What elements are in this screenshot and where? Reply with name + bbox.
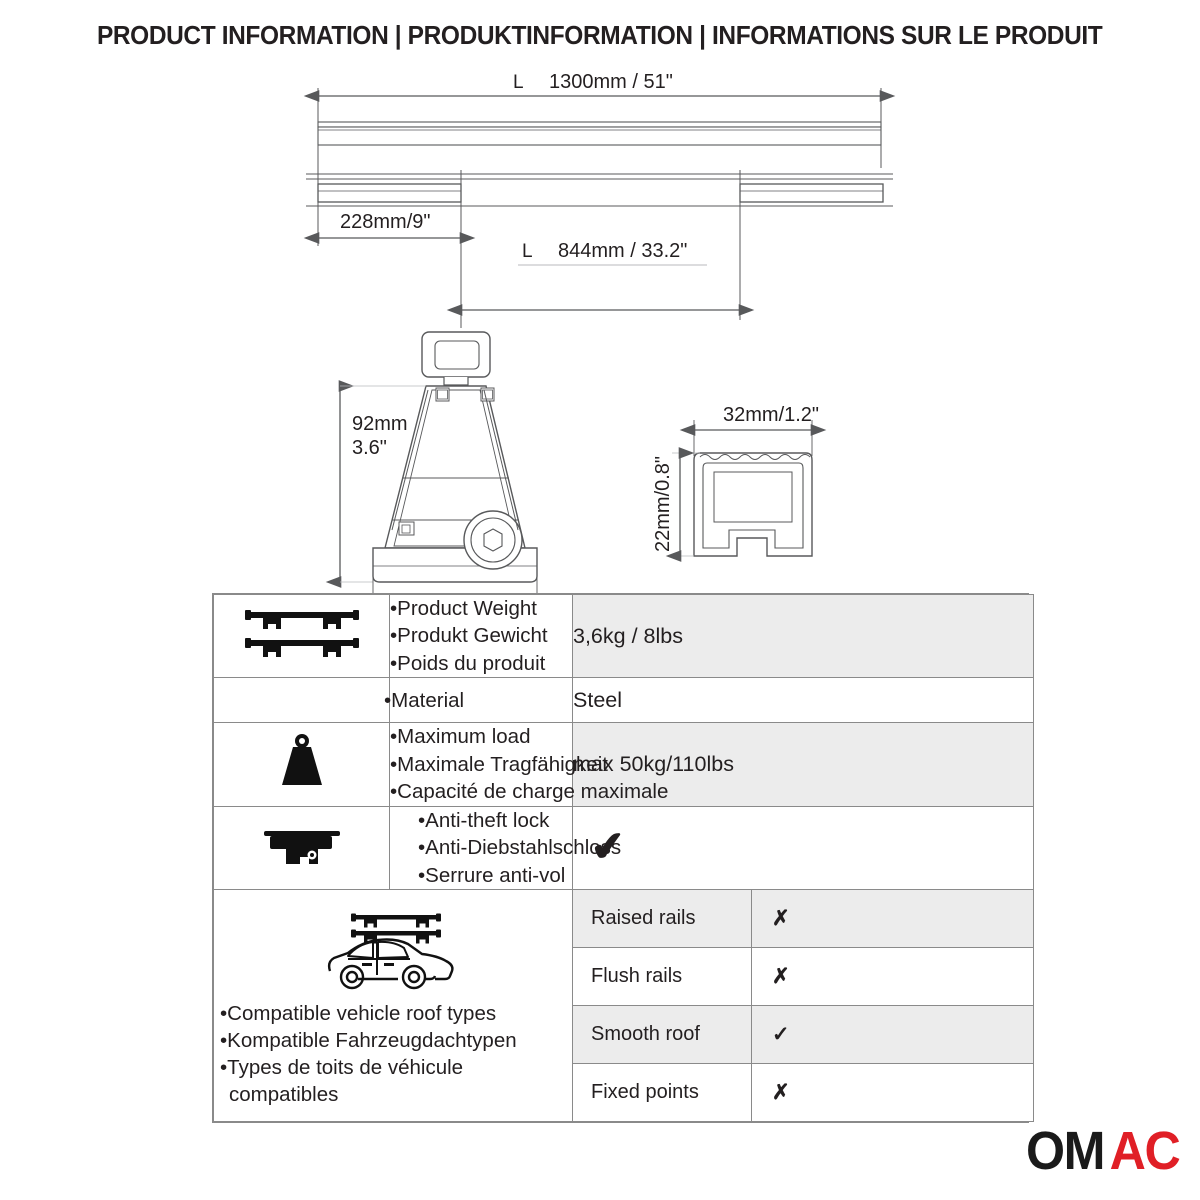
label-line: •Types de toits de véhicule (220, 1054, 572, 1081)
label-line: •Capacité de charge maximale (390, 778, 572, 805)
material-icon-cell (214, 678, 390, 723)
anti-theft-lock-labels: •Anti-theft lock •Anti-Diebstahlschloss … (390, 806, 573, 889)
label-line: •Maximum load (390, 723, 572, 750)
label-line: •Product Weight (390, 595, 572, 622)
technical-drawing: L 1300mm / 51" 228mm/9" L 844mm / 33.2" … (0, 60, 1200, 600)
label-line: •Produkt Gewicht (390, 622, 572, 649)
profile-width-value: 32mm/1.2" (723, 404, 819, 426)
specification-table: •Product Weight •Produkt Gewicht •Poids … (212, 593, 1029, 1123)
lock-icon (260, 858, 344, 875)
bar-length-prefix: L (513, 72, 524, 93)
table-row-maximum-load: •Maximum load •Maximale Tragfähigkeit •C… (214, 723, 1034, 806)
label-line: •Kompatible Fahrzeugdachtypen (220, 1027, 572, 1054)
product-weight-labels: •Product Weight •Produkt Gewicht •Poids … (390, 595, 573, 678)
page-title: PRODUCT INFORMATION | PRODUKTINFORMATION… (97, 22, 1102, 51)
anti-theft-lock-value: ✔ (573, 806, 1034, 889)
car-with-roof-bars-icon (214, 909, 572, 996)
label-line: •Material (384, 678, 572, 722)
foot-offset-value: 228mm/9" (340, 211, 430, 233)
label-line: •Anti-theft lock (418, 807, 572, 834)
foot-height-line2: 3.6" (352, 437, 387, 459)
roof-types-cell: Raised rails ✗ Flush rails ✗ Smooth roof… (573, 890, 1034, 1122)
label-line: •Compatible vehicle roof types (220, 1000, 572, 1027)
label-line: •Anti-Diebstahlschloss (418, 834, 572, 861)
table-row-anti-theft-lock: •Anti-theft lock •Anti-Diebstahlschloss … (214, 806, 1034, 889)
material-labels: •Material (390, 678, 573, 723)
label-line: •Serrure anti-vol (418, 862, 572, 889)
label-line: •Poids du produit (390, 650, 572, 677)
maximum-load-labels: •Maximum load •Maximale Tragfähigkeit •C… (390, 723, 573, 806)
compatibility-label-lines: •Compatible vehicle roof types •Kompatib… (214, 1000, 572, 1108)
bar-span-prefix: L (522, 241, 533, 262)
roof-bars-icon-cell (214, 595, 390, 678)
table-row-roof-compatibility: •Compatible vehicle roof types •Kompatib… (214, 890, 1034, 1122)
roof-type-name: Raised rails (573, 890, 752, 948)
roof-type-row-smooth-roof: Smooth roof ✓ (573, 1006, 1033, 1064)
checkmark-icon: ✔ (570, 825, 628, 870)
roof-type-row-fixed-points: Fixed points ✗ (573, 1064, 1033, 1122)
roof-type-mark: ✗ (752, 1064, 1034, 1122)
roof-type-row-raised-rails: Raised rails ✗ (573, 890, 1033, 948)
roof-type-name: Smooth roof (573, 1006, 752, 1064)
label-line: compatibles (220, 1081, 572, 1108)
table-row-product-weight: •Product Weight •Produkt Gewicht •Poids … (214, 595, 1034, 678)
profile-height-value: 22mm/0.8" (652, 456, 674, 552)
material-value: Steel (573, 678, 1034, 723)
roof-type-name: Flush rails (573, 948, 752, 1006)
weight-icon-cell (214, 723, 390, 806)
table-row-material: •Material Steel (214, 678, 1034, 723)
roof-type-mark: ✓ (752, 1006, 1034, 1064)
lock-icon-cell (214, 806, 390, 889)
label-line: •Maximale Tragfähigkeit (390, 751, 572, 778)
foot-height-line1: 92mm (352, 413, 408, 435)
product-weight-value: 3,6kg / 8lbs (573, 595, 1034, 678)
weight-icon (271, 780, 333, 797)
logo-text-ac: AC (1110, 1124, 1180, 1178)
omac-logo: OMAC (1023, 1124, 1182, 1178)
bar-length-value: 1300mm / 51" (549, 71, 673, 93)
logo-text-om: OM (1026, 1124, 1104, 1178)
roof-type-mark: ✗ (752, 948, 1034, 1006)
roof-type-row-flush-rails: Flush rails ✗ (573, 948, 1033, 1006)
roof-bars-icon (243, 651, 361, 668)
product-information-page: PRODUCT INFORMATION | PRODUKTINFORMATION… (0, 0, 1200, 1200)
roof-type-name: Fixed points (573, 1064, 752, 1122)
page-title-bar: PRODUCT INFORMATION | PRODUKTINFORMATION… (0, 22, 1200, 51)
roof-type-mark: ✗ (752, 890, 1034, 948)
compatibility-labels-cell: •Compatible vehicle roof types •Kompatib… (214, 890, 573, 1122)
bar-span-value: 844mm / 33.2" (558, 240, 687, 262)
